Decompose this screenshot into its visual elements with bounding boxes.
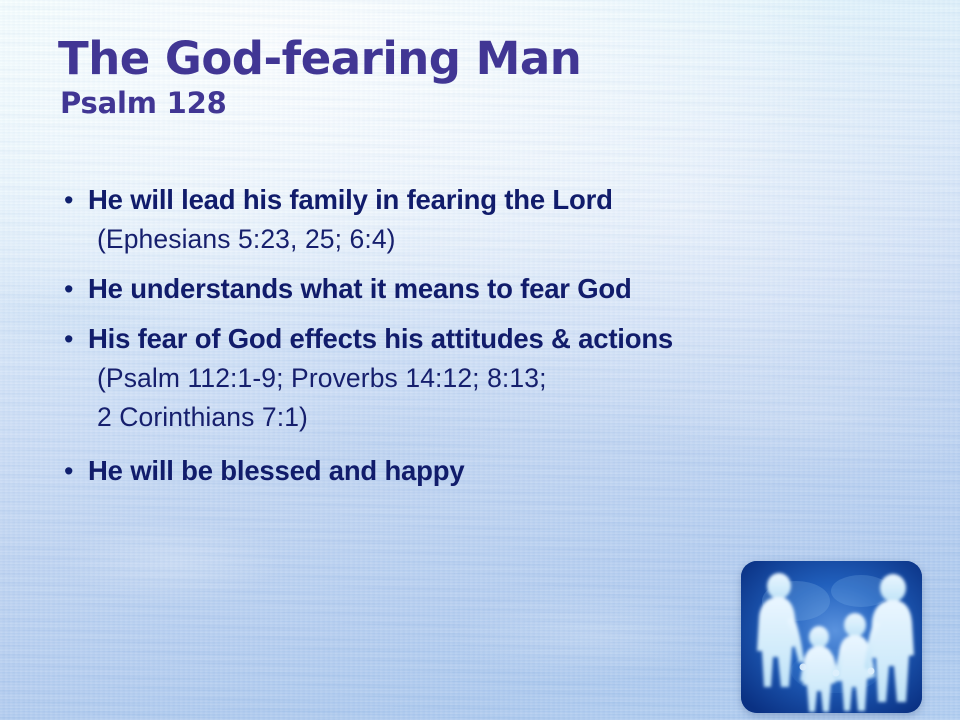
slide-canvas: The God-fearing Man Psalm 128 • He will … [0,0,960,720]
bullet-reference-text: (Psalm 112:1-9; Proverbs 14:12; 8:13; [97,359,888,398]
bullet-text: He will be blessed and happy [88,451,888,491]
spacer [58,441,888,451]
bullet-text: His fear of God effects his attitudes & … [88,319,888,437]
bullet-text: He understands what it means to fear God [88,269,888,309]
bullet-marker-icon: • [58,269,88,309]
bullet-marker-icon: • [58,451,88,491]
bullet-lead-text: He will be blessed and happy [88,451,888,491]
page-title: The God-fearing Man [58,36,581,82]
list-item: • He understands what it means to fear G… [58,269,888,309]
list-item: • He will be blessed and happy [58,451,888,491]
bullet-marker-icon: • [58,319,88,359]
bullet-marker-icon: • [58,180,88,220]
bullet-text: He will lead his family in fearing the L… [88,180,888,259]
bullet-list: • He will lead his family in fearing the… [58,180,888,495]
bullet-lead-text: His fear of God effects his attitudes & … [88,319,888,359]
bullet-reference-text: (Ephesians 5:23, 25; 6:4) [97,220,888,259]
page-subtitle: Psalm 128 [60,88,581,120]
bullet-reference-text-continued: 2 Corinthians 7:1) [97,398,888,437]
bullet-lead-text: He will lead his family in fearing the L… [88,180,888,220]
list-item: • His fear of God effects his attitudes … [58,319,888,437]
title-block: The God-fearing Man Psalm 128 [58,36,581,120]
bullet-lead-text: He understands what it means to fear God [88,269,888,309]
family-silhouette-graphic [741,561,922,713]
list-item: • He will lead his family in fearing the… [58,180,888,259]
family-silhouette-photo [741,561,922,713]
